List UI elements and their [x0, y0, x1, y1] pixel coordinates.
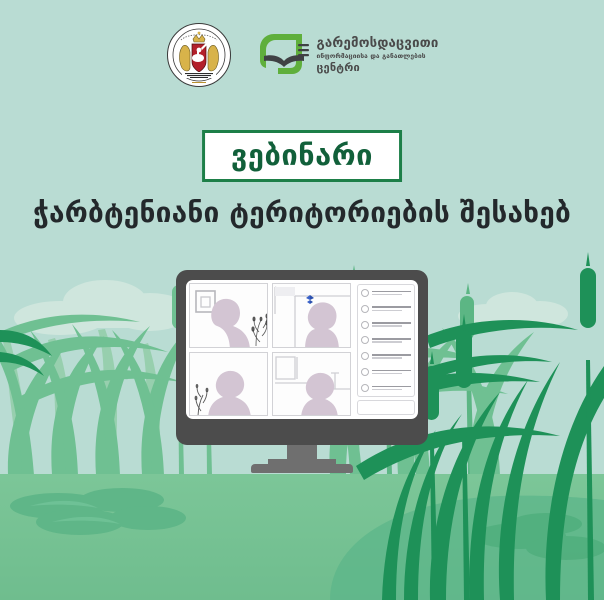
avatar [361, 305, 369, 313]
participant-name-placeholder [372, 322, 411, 327]
participant-roster [354, 280, 418, 419]
monitor-screen [186, 280, 418, 419]
list-item[interactable] [361, 305, 411, 313]
webinar-badge-label: ვებინარი [231, 140, 373, 170]
list-item[interactable] [361, 336, 411, 344]
header-logos: გარემოსდაცვითი ინფორმაციისა და განათლები… [0, 22, 604, 88]
video-cell-4[interactable] [272, 352, 351, 417]
avatar [361, 368, 369, 376]
list-item[interactable] [361, 384, 411, 392]
participant-name-placeholder [372, 370, 411, 375]
participant-name-placeholder [372, 306, 411, 311]
georgia-coat-of-arms-icon [166, 22, 232, 88]
chat-input-box[interactable] [357, 400, 415, 415]
monitor-stand-foot [251, 464, 353, 473]
eiec-logo: გარემოსდაცვითი ინფორმაციისა და განათლები… [258, 30, 439, 80]
avatar [361, 352, 369, 360]
poster-canvas: გარემოსდაცვითი ინფორმაციისა და განათლები… [0, 0, 604, 600]
list-item[interactable] [361, 289, 411, 297]
list-item[interactable] [361, 352, 411, 360]
participant-name-placeholder [372, 386, 411, 391]
list-item[interactable] [361, 321, 411, 329]
avatar [361, 289, 369, 297]
video-cell-2[interactable] [272, 283, 351, 348]
eiec-line-3: ცენტრი [317, 62, 439, 73]
avatar [361, 336, 369, 344]
participant-name-placeholder [372, 338, 411, 343]
participant-list[interactable] [357, 284, 415, 397]
participant-name-placeholder [372, 291, 411, 296]
list-item[interactable] [361, 368, 411, 376]
eiec-logo-text: გარემოსდაცვითი ინფორმაციისა და განათლები… [317, 37, 439, 73]
page-subtitle: ჭარბტენიანი ტერიტორიების შესახებ [0, 196, 604, 229]
avatar [361, 384, 369, 392]
monitor-illustration [176, 270, 428, 476]
eiec-line-1: გარემოსდაცვითი [317, 37, 439, 50]
avatar [361, 321, 369, 329]
participant-name-placeholder [372, 354, 411, 359]
webinar-badge: ვებინარი [202, 130, 402, 182]
video-call-grid [186, 280, 354, 419]
monitor-bezel [176, 270, 428, 445]
video-cell-1[interactable] [189, 283, 268, 348]
video-cell-3[interactable] [189, 352, 268, 417]
eiec-logo-mark-icon [258, 30, 310, 80]
eiec-line-2: ინფორმაციისა და განათლების [317, 53, 439, 60]
